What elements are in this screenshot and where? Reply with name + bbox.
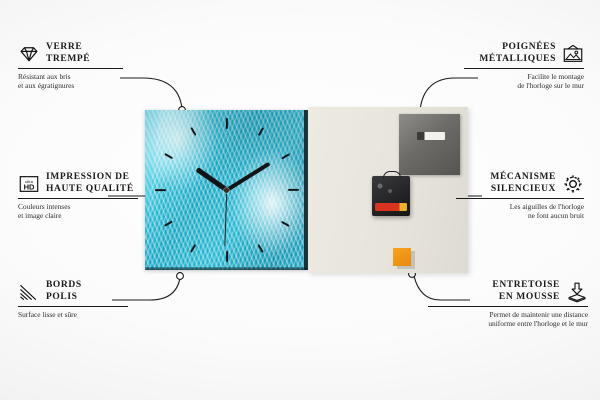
feature-title-line1: MÉCANISME	[490, 172, 556, 184]
bracket-slot	[417, 132, 445, 140]
feature-title-line2: EN MOUSSE	[492, 292, 560, 304]
hands-center-cap	[224, 188, 229, 193]
foam-spacer	[393, 248, 411, 266]
feature-sub-line1: Résistant aux bris	[18, 72, 123, 81]
connector-verre-trempe	[120, 78, 182, 108]
feature-divider	[464, 68, 584, 69]
connector-dot-bords-polis	[177, 273, 184, 280]
feature-bords-polis: BORDS POLIS Surface lisse et sûre	[18, 280, 128, 319]
infographic-canvas: VERRE TREMPÉ Résistant aux bris et aux é…	[0, 0, 600, 400]
feature-title-line1: IMPRESSION DE	[46, 172, 134, 184]
minute-hand	[225, 162, 270, 192]
feature-mecanisme-silencieux: MÉCANISME SILENCIEUX Les aiguilles de l'…	[456, 172, 584, 221]
feature-title-line1: POIGNÉES	[479, 42, 556, 54]
hour-hand	[196, 167, 228, 191]
feature-divider	[428, 306, 588, 307]
feature-entretoise-en-mousse: ENTRETOISE EN MOUSSE Permet de maintenir…	[428, 280, 588, 329]
feature-title-line2: MÉTALLIQUES	[479, 54, 556, 66]
mechanism-detail	[376, 182, 398, 196]
feature-sub-line2: et image claire	[18, 211, 138, 220]
picture-hanger-icon	[562, 43, 584, 65]
svg-text:HD: HD	[24, 182, 35, 191]
aa-battery	[375, 203, 407, 211]
feature-poignees-metalliques: POIGNÉES MÉTALLIQUES Facilite le montage…	[464, 42, 584, 91]
clock-mechanism-box	[372, 176, 410, 216]
metal-wall-bracket	[399, 114, 460, 175]
feature-title-line1: BORDS	[46, 280, 82, 292]
feature-sub-line1: Permet de maintenir une distance	[428, 310, 588, 319]
feature-divider	[18, 198, 138, 199]
feature-sub-line1: Les aiguilles de l'horloge	[456, 202, 584, 211]
press-down-arrow-icon	[566, 281, 588, 303]
feature-title-line2: POLIS	[46, 292, 82, 304]
feature-divider	[18, 68, 123, 69]
feature-sub-line1: Facilite le montage	[464, 72, 584, 81]
feature-title-line1: ENTRETOISE	[492, 280, 560, 292]
feature-title-line2: TREMPÉ	[46, 54, 90, 66]
feature-impression-haute-qualite: ultra HD IMPRESSION DE HAUTE QUALITÉ Cou…	[18, 172, 138, 221]
clock-dial	[145, 110, 308, 270]
feature-sub-line2: de l'horloge sur le mur	[464, 81, 584, 90]
gear-icon	[562, 173, 584, 195]
diamond-icon	[18, 43, 40, 65]
mechanism-hanger-lug	[383, 171, 401, 178]
product-wall-clock	[145, 110, 308, 270]
polished-edge-lines-icon	[18, 281, 40, 303]
feature-sub-line2: uniforme entre l'horloge et le mur	[428, 319, 588, 328]
feature-sub-line1: Surface lisse et sûre	[18, 310, 128, 319]
feature-divider	[456, 198, 584, 199]
feature-title-line1: VERRE	[46, 42, 90, 54]
feature-sub-line2: et aux égratignures	[18, 81, 123, 90]
feature-sub-line1: Couleurs intenses	[18, 202, 138, 211]
clock-bottom-edge	[145, 267, 308, 270]
feature-sub-line2: ne font aucun bruit	[456, 211, 584, 220]
feature-title-line2: SILENCIEUX	[490, 184, 556, 196]
feature-verre-trempe: VERRE TREMPÉ Résistant aux bris et aux é…	[18, 42, 123, 91]
ultra-hd-badge-icon: ultra HD	[18, 173, 40, 195]
second-hand	[224, 190, 227, 246]
feature-title-line2: HAUTE QUALITÉ	[46, 184, 134, 196]
feature-divider	[18, 306, 128, 307]
